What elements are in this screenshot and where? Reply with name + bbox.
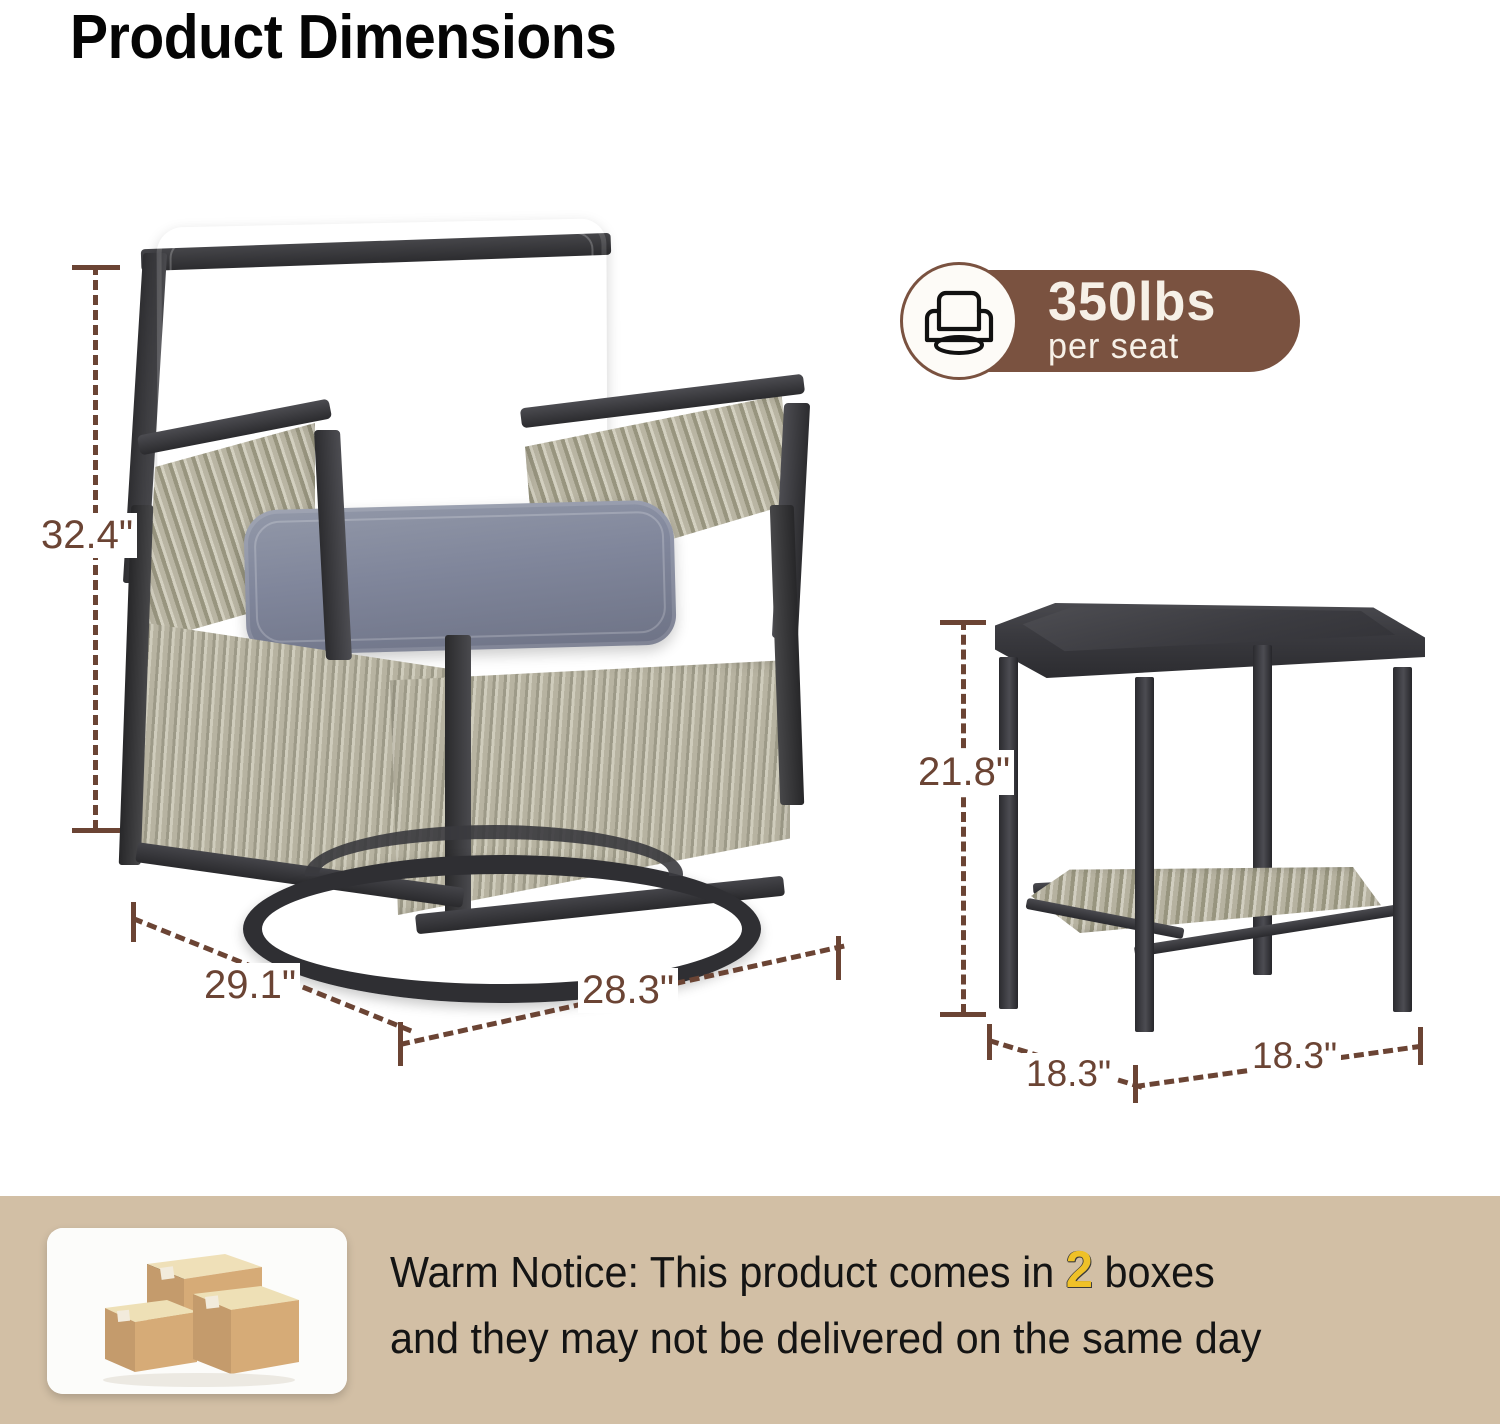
notice-box-count: 2 <box>1066 1241 1093 1299</box>
table-leg-front-center <box>1135 677 1154 1032</box>
table-leg-back-left <box>999 657 1018 1009</box>
notice-line1-after: boxes <box>1104 1248 1214 1297</box>
table-depth-label: 18.3" <box>1022 1053 1115 1095</box>
page-title: Product Dimensions <box>70 2 616 73</box>
chair-height-label: 32.4" <box>37 513 137 558</box>
chair-depth-label: 29.1" <box>200 963 300 1008</box>
chair-illustration <box>115 205 835 965</box>
side-table-illustration <box>985 595 1435 1035</box>
armchair-swivel-icon <box>920 285 998 357</box>
chair-width-label: 28.3" <box>578 968 678 1013</box>
notice-line2: and they may not be delivered on the sam… <box>390 1314 1261 1363</box>
infographic-canvas: Product Dimensions 32.4" 29.1" 28.3" <box>0 0 1500 1424</box>
table-width-cap-end <box>1418 1027 1423 1065</box>
table-height-cap-bottom <box>940 1012 986 1017</box>
notice-text: Warm Notice: This product comes in 2 box… <box>390 1234 1386 1370</box>
chair-height-cap-bottom <box>72 828 120 833</box>
badge-per-seat-label: per seat <box>1048 328 1179 364</box>
chair-seat-cushion <box>243 499 677 655</box>
badge-icon-circle <box>900 262 1018 380</box>
table-leg-front-right <box>1393 667 1412 1012</box>
badge-weight-value: 350lbs <box>1048 274 1216 329</box>
cardboard-boxes-icon <box>47 1228 347 1394</box>
table-height-label: 21.8" <box>914 750 1014 795</box>
weight-capacity-badge: 350lbs per seat <box>900 262 1300 380</box>
table-width-label: 18.3" <box>1248 1035 1341 1077</box>
boxes-image-card <box>47 1228 347 1394</box>
notice-line1-before: Warm Notice: This product comes in <box>390 1248 1054 1297</box>
table-height-line <box>961 620 966 1014</box>
chair-width-cap-end <box>836 936 841 980</box>
warm-notice-banner: Warm Notice: This product comes in 2 box… <box>0 1196 1500 1424</box>
